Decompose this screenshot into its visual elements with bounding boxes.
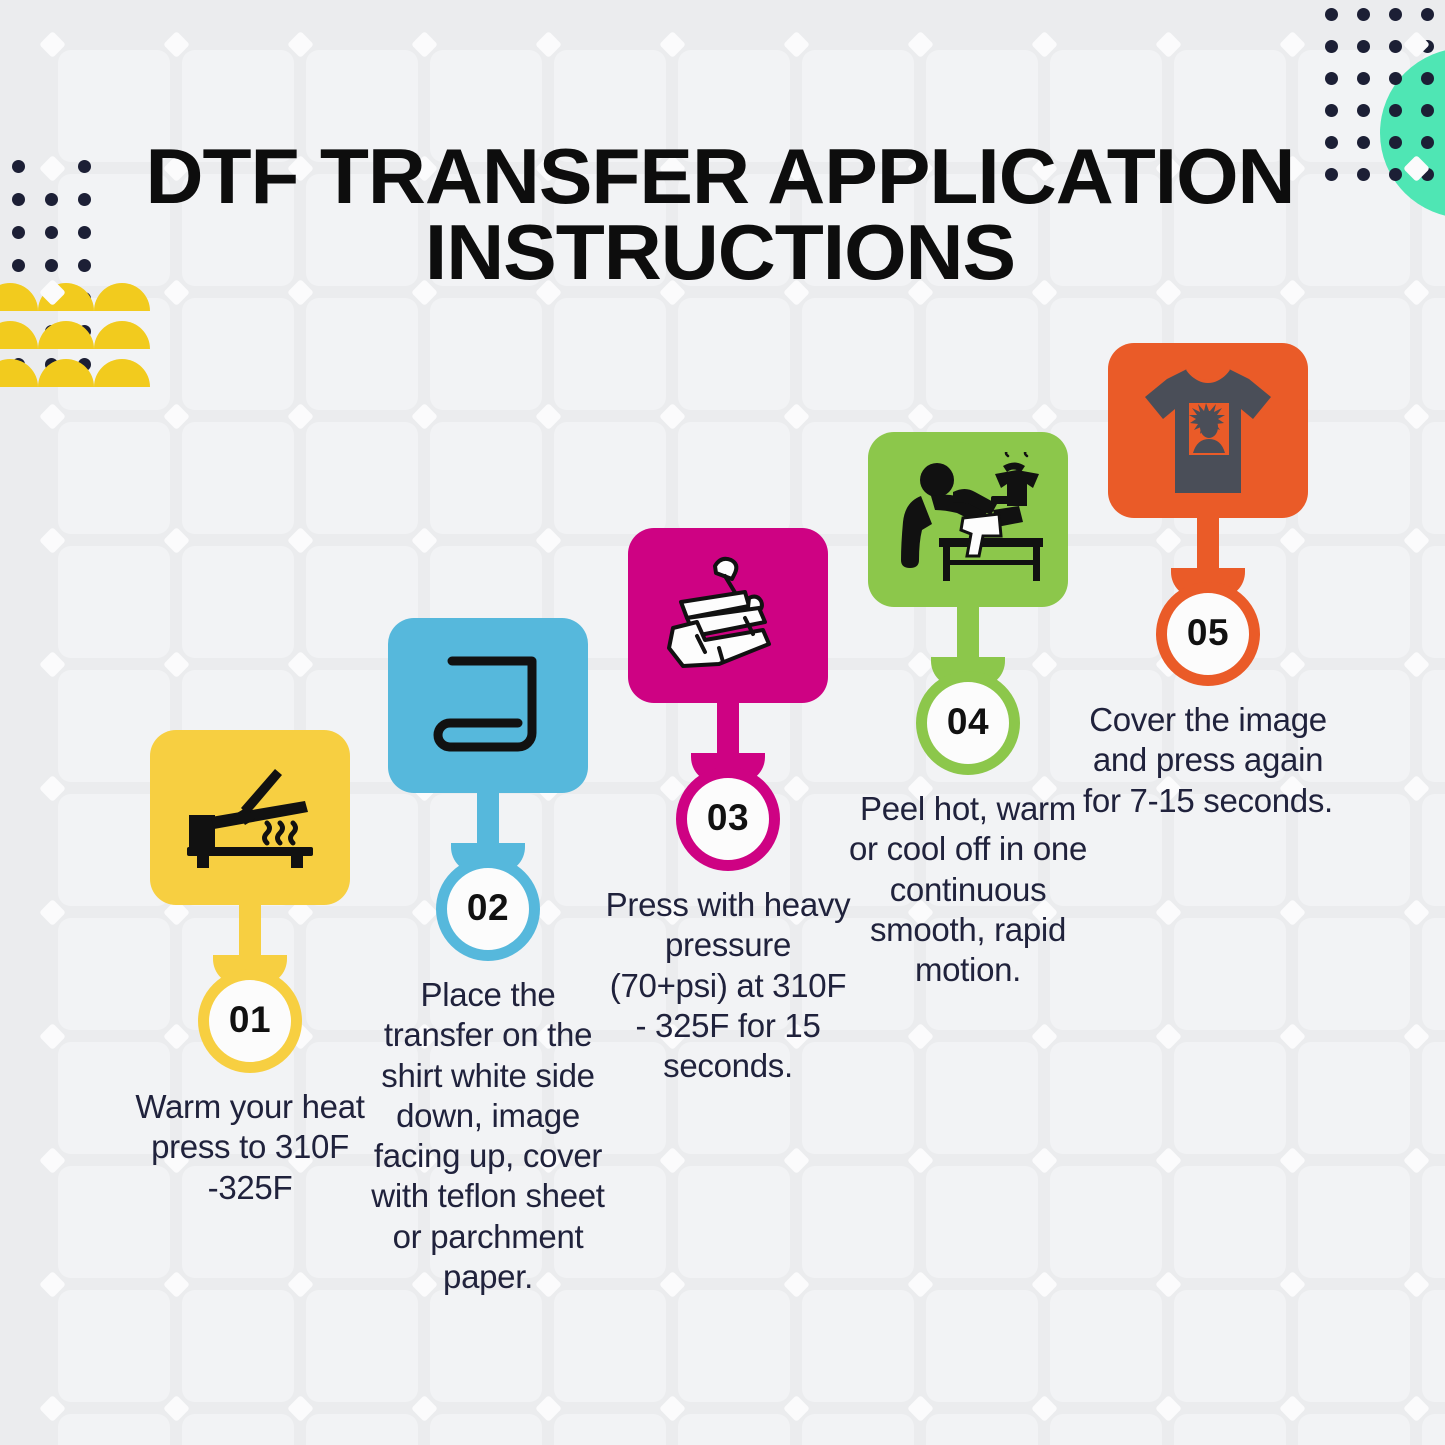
step-item-03: 03 Press with heavy pressure (70+psi) at… [598, 528, 858, 1086]
step-item-02: 02 Place the transfer on the shirt white… [358, 618, 618, 1297]
step-number-badge-02: 02 [436, 857, 540, 961]
transfer-sheet-icon [424, 647, 552, 765]
heat-press-open-icon [175, 763, 325, 873]
step-caption-01: Warm your heat press to 310F -325F [125, 1087, 375, 1208]
step-connector-01: 01 [185, 901, 315, 1073]
step-connector-02: 02 [423, 789, 553, 961]
step-card-05 [1108, 343, 1308, 518]
step-card-01 [150, 730, 350, 905]
step-number-label: 05 [1187, 612, 1229, 654]
heat-press-machine-icon [653, 548, 803, 683]
printed-tshirt-icon [1139, 361, 1277, 501]
step-item-05: 05 Cover the image and press again for 7… [1078, 343, 1338, 821]
step-connector-03: 03 [663, 699, 793, 871]
step-connector-04: 04 [903, 603, 1033, 775]
step-number-badge-01: 01 [198, 969, 302, 1073]
step-item-01: 01 Warm your heat press to 310F -325F [120, 730, 380, 1208]
step-number-badge-05: 05 [1156, 582, 1260, 686]
step-card-04 [868, 432, 1068, 607]
step-number-badge-04: 04 [916, 671, 1020, 775]
peel-transfer-person-icon [891, 452, 1046, 587]
step-number-label: 03 [707, 797, 749, 839]
step-caption-02: Place the transfer on the shirt white si… [363, 975, 613, 1297]
step-number-label: 01 [229, 999, 271, 1041]
step-caption-03: Press with heavy pressure (70+psi) at 31… [603, 885, 853, 1086]
step-number-label: 04 [947, 701, 989, 743]
step-caption-04: Peel hot, warm or cool off in one contin… [843, 789, 1093, 990]
step-card-03 [628, 528, 828, 703]
step-item-04: 04 Peel hot, warm or cool off in one con… [838, 432, 1098, 990]
steps-container: 01 Warm your heat press to 310F -325F 02… [0, 0, 1445, 1445]
step-caption-05: Cover the image and press again for 7-15… [1083, 700, 1333, 821]
step-number-label: 02 [467, 887, 509, 929]
step-card-02 [388, 618, 588, 793]
step-number-badge-03: 03 [676, 767, 780, 871]
step-connector-05: 05 [1143, 514, 1273, 686]
